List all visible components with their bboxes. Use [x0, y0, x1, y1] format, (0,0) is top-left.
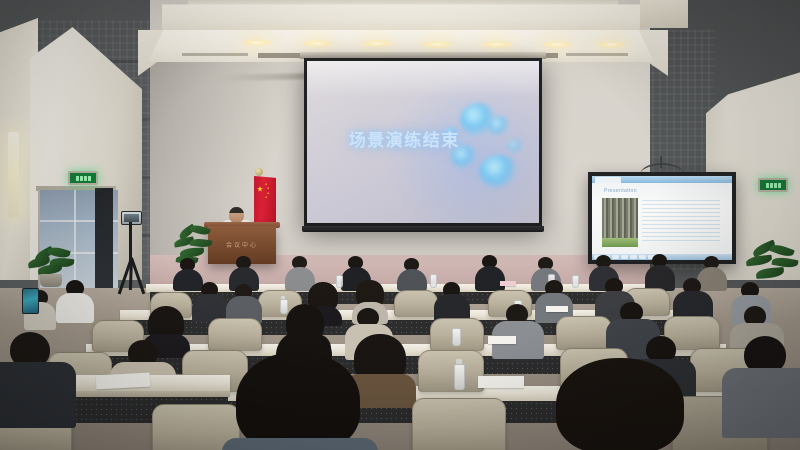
- flag-star-small: [265, 196, 267, 198]
- slide-graphic-blob: [488, 116, 510, 136]
- exit-sign-right-glyphs: [766, 183, 781, 188]
- paper-sheet: [500, 281, 516, 286]
- attendee-torso: [475, 266, 505, 291]
- projection-screen-surface: 场景演练结束: [307, 61, 539, 223]
- exit-sign-left: [68, 171, 98, 185]
- attendee-torso: [697, 267, 727, 291]
- attendee-torso: [56, 293, 94, 323]
- attendee-torso: [222, 438, 378, 450]
- chair[interactable]: [394, 290, 438, 317]
- paper-sheet: [478, 376, 524, 388]
- water-bottle: [454, 364, 465, 390]
- tripod-column: [129, 222, 132, 262]
- chair[interactable]: [412, 398, 506, 450]
- side-display-surface: Presentation: [592, 176, 732, 260]
- attendee-torso: [397, 269, 427, 291]
- side-display-window-title: Presentation: [604, 188, 637, 194]
- downlight-4: [422, 41, 452, 48]
- water-bottle: [452, 328, 461, 346]
- water-bottle: [280, 299, 288, 314]
- door-opening[interactable]: [95, 188, 113, 292]
- slide-graphic-blob: [479, 155, 519, 189]
- bottle-cap: [281, 296, 285, 299]
- downlight-1: [242, 39, 272, 46]
- exit-sign-right: [758, 178, 788, 192]
- slide-title-text: 场景演练结束: [349, 126, 460, 151]
- downlight-6: [542, 41, 572, 48]
- chair[interactable]: [418, 350, 484, 392]
- attendee-hair: [236, 352, 360, 450]
- conference-hall-photo: 场景演练结束 Presentation: [0, 0, 800, 450]
- projection-screen: 场景演练结束: [304, 58, 542, 226]
- bottle-cap: [456, 359, 462, 364]
- exit-sign-left-glyphs: [76, 176, 91, 181]
- vertical-strip-light: [8, 132, 19, 218]
- vent-edge-right: [566, 53, 628, 56]
- water-bottle: [430, 274, 437, 288]
- ceiling-block-right: [640, 0, 688, 28]
- speaker-head: [229, 207, 244, 223]
- ceiling-beam: [162, 2, 640, 34]
- attendee-torso: [0, 362, 76, 428]
- paper-sheet: [96, 373, 151, 390]
- flag-star-small: [265, 183, 267, 185]
- podium-inscription: 会议中心: [226, 240, 258, 249]
- flag-pole-finial: [255, 168, 263, 176]
- attendee-torso: [173, 269, 203, 291]
- downlight-7: [596, 41, 626, 48]
- document-text-block: [642, 200, 720, 244]
- flag-star-large: [257, 186, 263, 192]
- window-tab[interactable]: [595, 177, 621, 183]
- downlight-3: [362, 40, 392, 47]
- chair[interactable]: [208, 318, 262, 351]
- side-display: Presentation: [588, 172, 736, 264]
- attendee-hair: [556, 358, 684, 450]
- screen-weight-bar: [302, 226, 544, 232]
- vent-edge-left: [182, 53, 248, 56]
- chair[interactable]: [556, 316, 612, 350]
- flag-star-small: [267, 187, 269, 189]
- water-bottle: [572, 275, 579, 288]
- smartphone-in-hand[interactable]: [22, 288, 39, 314]
- national-flag: [254, 176, 276, 224]
- document-photo-foreground: [602, 238, 638, 247]
- downlight-2: [302, 40, 332, 47]
- paper-sheet: [488, 336, 516, 344]
- water-bottle: [336, 275, 343, 288]
- attendee-torso: [722, 368, 800, 438]
- flag-star-small: [267, 192, 269, 194]
- paper-sheet: [546, 306, 568, 312]
- downlight-5: [482, 41, 512, 48]
- slide-graphic-blob: [507, 139, 523, 154]
